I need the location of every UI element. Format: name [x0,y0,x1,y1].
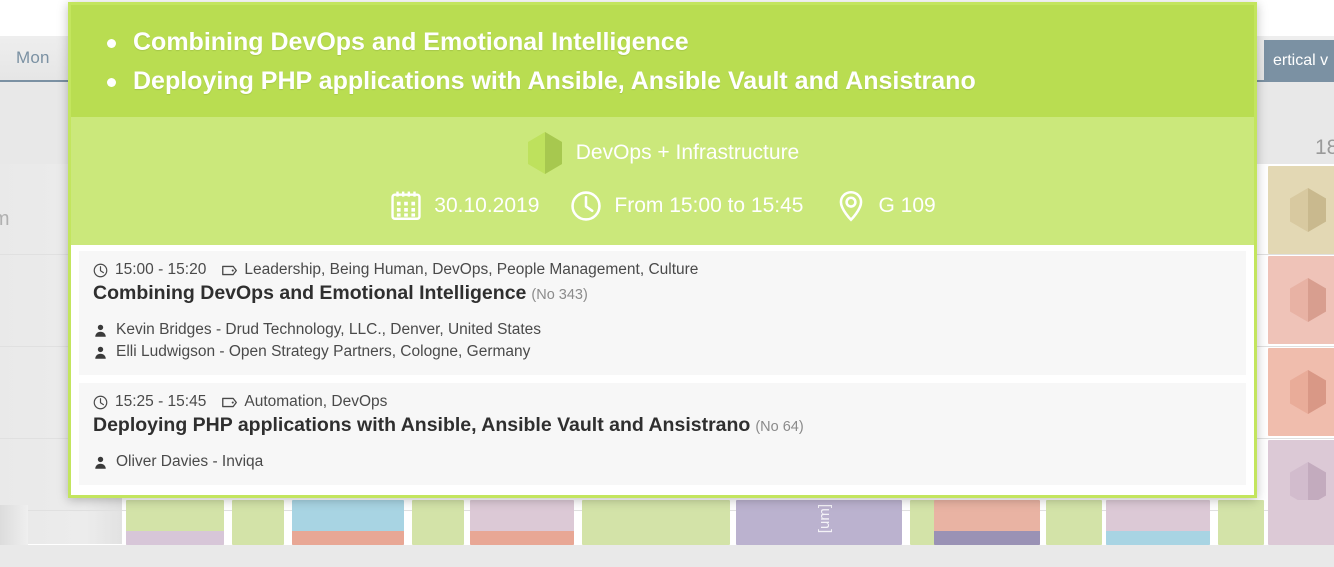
location-value: G 109 [879,194,936,218]
session-number: (No 64) [755,419,803,435]
calendar-event-block[interactable] [934,500,1040,545]
event-strip [470,531,574,545]
person-icon [93,345,108,360]
session-time: 15:25 - 15:45 [115,393,206,411]
speaker-item: Kevin Bridges - Drud Technology, LLC., D… [93,319,1232,341]
screen: Mon ertical v 18 torium 2 3 4 [0,0,1334,567]
headline-item: Combining DevOps and Emotional Intellige… [97,23,1228,62]
fact-location: G 109 [834,189,936,223]
fact-time: From 15:00 to 15:45 [569,189,803,223]
event-strip [1106,531,1210,545]
session-time: 15:00 - 15:20 [115,261,206,279]
calendar-event-block[interactable] [412,500,464,545]
event-strip [934,531,1040,545]
session-meta: 15:00 - 15:20 Leadership, Being Human, D… [93,261,1232,279]
calendar-event-block[interactable] [582,500,730,545]
session-tags: Leadership, Being Human, DevOps, People … [244,261,698,279]
clock-icon [93,395,108,410]
tag-icon [221,395,238,410]
calendar-event-block[interactable] [1046,500,1102,545]
speaker-item: Elli Ludwigson - Open Strategy Partners,… [93,341,1232,363]
session-item[interactable]: 15:25 - 15:45 Automation, DevOps Deployi… [79,383,1246,485]
session-title-row: Deploying PHP applications with Ansible,… [93,414,1232,437]
speaker-list: Kevin Bridges - Drud Technology, LLC., D… [93,319,1232,363]
session-number: (No 343) [531,287,587,303]
hexagon-icon [1288,277,1328,323]
calendar-event-block[interactable] [292,500,404,545]
time-value: From 15:00 to 15:45 [614,194,803,218]
calendar-event-block[interactable] [1268,500,1334,545]
speaker-item: Oliver Davies - Inviqa [93,451,1232,473]
tab-monday[interactable]: Mon [16,48,50,68]
session-list: 15:00 - 15:20 Leadership, Being Human, D… [71,245,1254,495]
location-pin-icon [834,189,868,223]
session-tags-wrap: Automation, DevOps [221,393,387,411]
hexagon-icon [1288,369,1328,415]
event-strip [126,531,224,545]
calendar-event-block[interactable] [470,500,574,545]
calendar-event-block[interactable] [232,500,284,545]
popup-headline: Combining DevOps and Emotional Intellige… [71,5,1254,117]
calendar-event-block[interactable] [1268,166,1334,254]
session-tags-wrap: Leadership, Being Human, DevOps, People … [221,261,698,279]
column-number: 18 [1315,136,1334,160]
session-title-row: Combining DevOps and Emotional Intellige… [93,282,1232,305]
track-row: DevOps + Infrastructure [526,131,800,175]
track-label: DevOps + Infrastructure [576,141,800,165]
fact-date: 30.10.2019 [389,189,539,223]
headline-list: Combining DevOps and Emotional Intellige… [97,23,1228,101]
calendar-footer [0,545,1334,567]
session-item[interactable]: 15:00 - 15:20 Leadership, Being Human, D… [79,251,1246,375]
session-meta: 15:25 - 15:45 Automation, DevOps [93,393,1232,411]
calendar-event-block[interactable]: [um] [736,500,902,545]
calendar-event-block[interactable] [1106,500,1210,545]
session-detail-popup: Combining DevOps and Emotional Intellige… [68,2,1257,498]
clock-icon [569,189,603,223]
event-strip [292,531,404,545]
session-title: Combining DevOps and Emotional Intellige… [93,282,526,304]
session-tags: Automation, DevOps [244,393,387,411]
clock-icon [93,263,108,278]
event-vertical-label: [um] [816,504,833,533]
person-icon [93,323,108,338]
date-value: 30.10.2019 [434,194,539,218]
popup-meta: DevOps + Infrastructure [71,117,1254,245]
speaker-name: Oliver Davies - Inviqa [116,451,263,473]
calendar-event-block[interactable] [1218,500,1264,545]
headline-item: Deploying PHP applications with Ansible,… [97,62,1228,101]
speaker-name: Elli Ludwigson - Open Strategy Partners,… [116,341,530,363]
left-edge-shadow [0,505,28,547]
calendar-icon [389,189,423,223]
speaker-list: Oliver Davies - Inviqa [93,451,1232,473]
person-icon [93,455,108,470]
speaker-name: Kevin Bridges - Drud Technology, LLC., D… [116,319,541,341]
calendar-event-block[interactable] [1268,256,1334,344]
facts-row: 30.10.2019 From 15:00 to 15:45 [389,189,935,223]
calendar-event-block[interactable] [1268,348,1334,436]
tag-icon [221,263,238,278]
session-title: Deploying PHP applications with Ansible,… [93,414,750,436]
hexagon-icon [1288,187,1328,233]
hexagon-icon [526,131,564,175]
calendar-event-block[interactable] [126,500,224,545]
tab-vertical-view[interactable]: ertical v [1264,40,1334,82]
